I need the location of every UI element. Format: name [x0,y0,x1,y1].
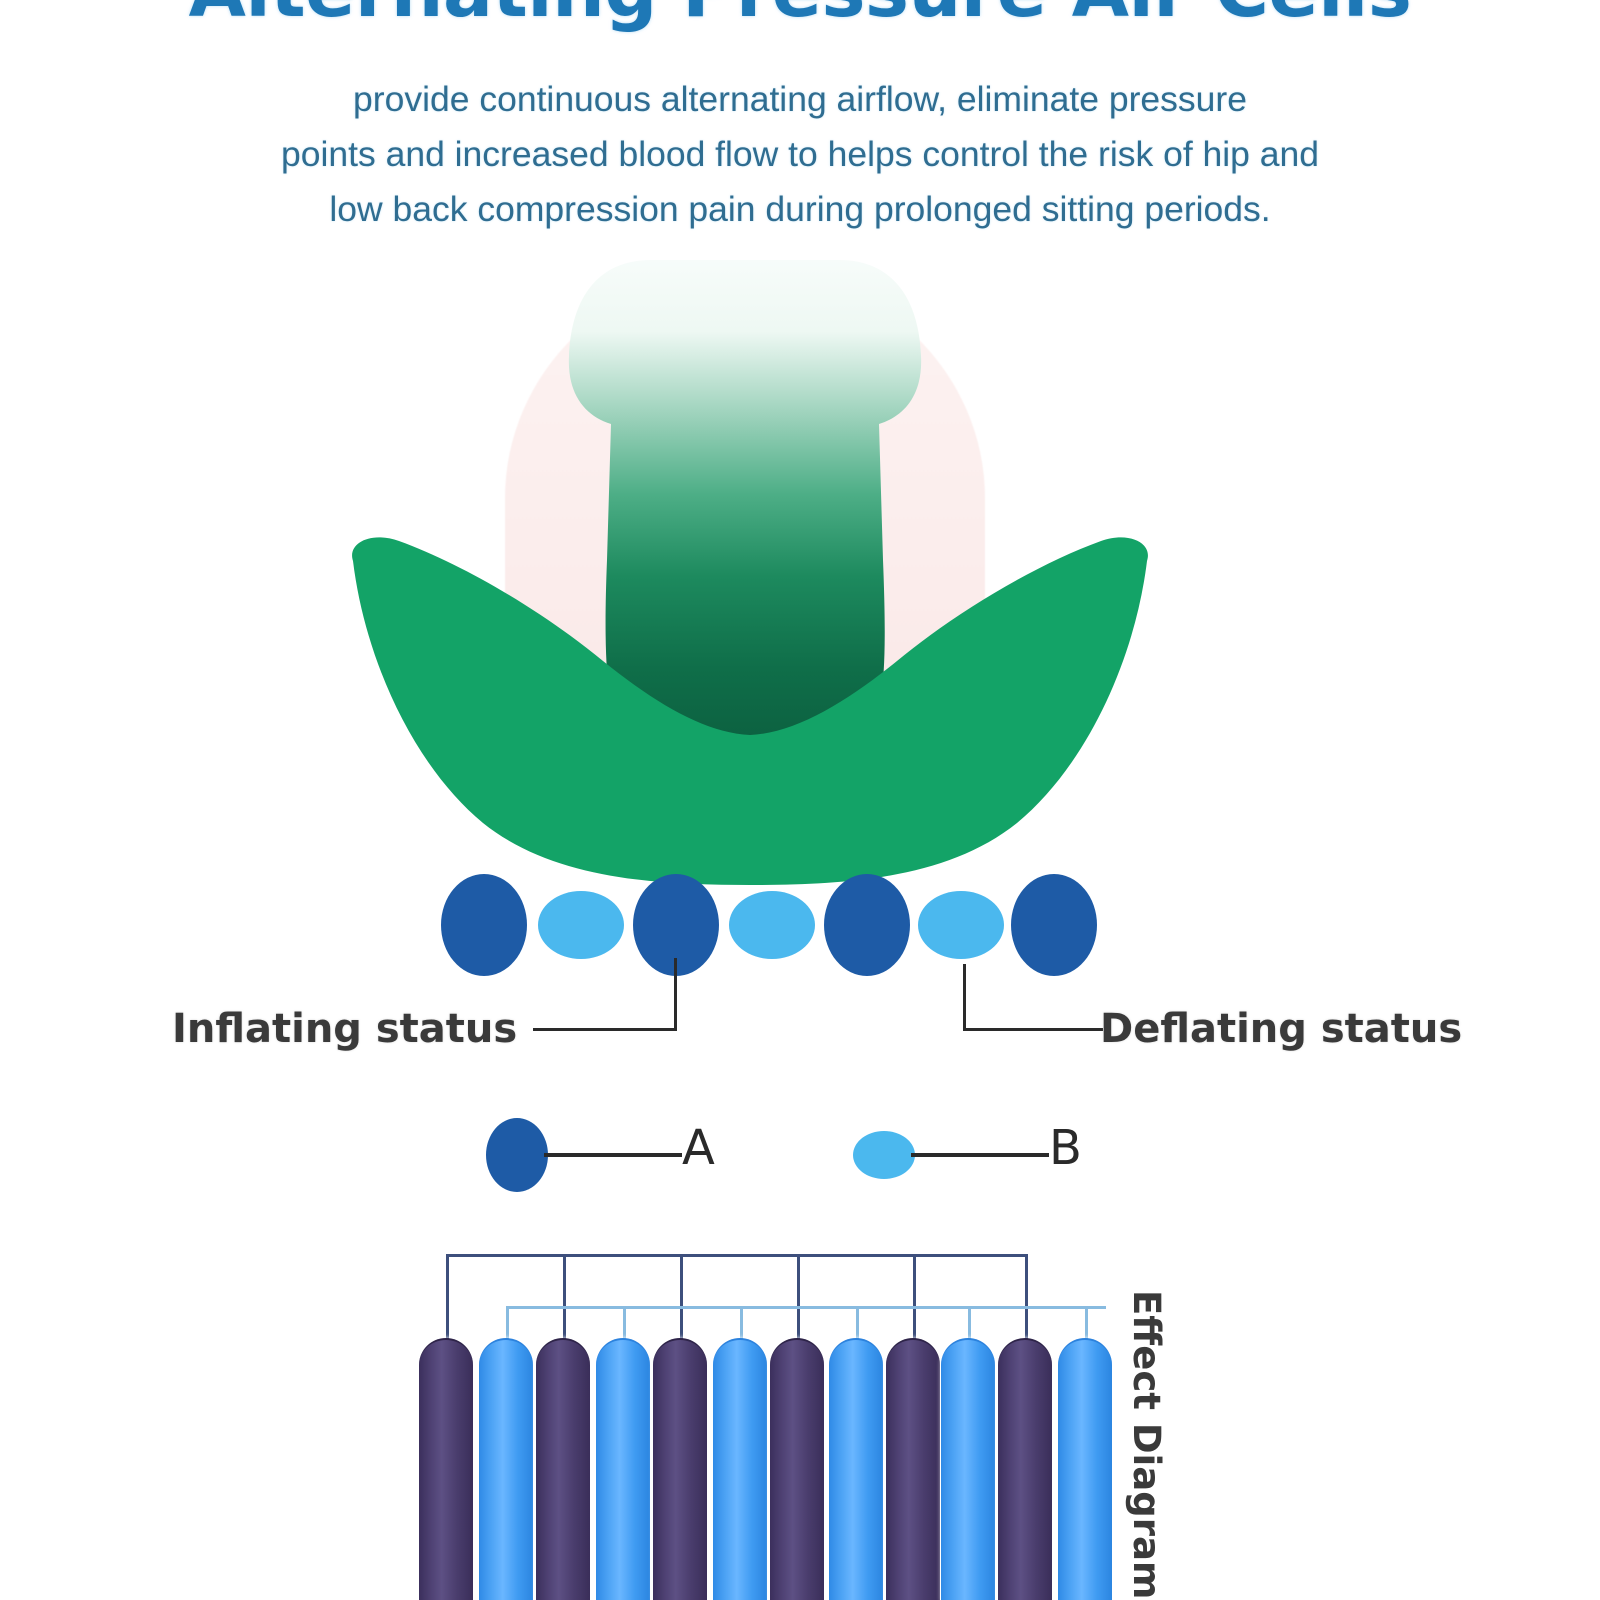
effect-tube-dark-1 [419,1338,473,1600]
manifold-light-drop-5 [968,1306,971,1342]
subtitle-line-3: low back compression pain during prolong… [100,182,1500,237]
manifold-light-drop-2 [623,1306,626,1342]
manifold-dark-rail [446,1254,1028,1257]
manifold-light-drop-4 [856,1306,859,1342]
legend-key-b: B [1049,1120,1082,1176]
legend: A B [0,1100,1600,1210]
manifold-dark-drop-6 [1025,1254,1028,1342]
legend-connector-b [911,1153,1049,1157]
manifold-light-drop-3 [740,1306,743,1342]
effect-tube-dark-2 [536,1338,590,1600]
legend-key-a: A [682,1120,715,1176]
subtitle-line-1: provide continuous alternating airflow, … [100,72,1500,127]
effect-tube-dark-5 [886,1338,940,1600]
manifold-light-drop-1 [506,1306,509,1342]
effect-tube-light-4 [829,1338,883,1600]
legend-connector-a [544,1153,682,1157]
manifold-dark-drop-1 [446,1254,449,1342]
inflating-status-label: Inflating status [172,1006,517,1052]
effect-tube-light-5 [941,1338,995,1600]
effect-tube-dark-3 [653,1338,707,1600]
effect-tube-light-1 [479,1338,533,1600]
inflating-leader-vertical [674,958,677,1030]
legend-swatch-inflated-icon [486,1118,548,1192]
deflating-leader-horizontal [963,1028,1103,1031]
cushion-illustration [300,250,1200,910]
effect-tube-light-2 [596,1338,650,1600]
page-title: Alternating Pressure Air Cells [189,0,1412,34]
effect-tube-dark-6 [998,1338,1052,1600]
effect-tube-light-3 [713,1338,767,1600]
title-band: Alternating Pressure Air Cells [0,0,1600,38]
legend-swatch-deflated-icon [853,1131,915,1179]
effect-diagram [0,1238,1600,1600]
subtitle-line-2: points and increased blood flow to helps… [100,127,1500,182]
manifold-dark-drop-4 [797,1254,800,1342]
inflating-leader-horizontal [533,1028,677,1031]
manifold-light-drop-6 [1085,1306,1088,1342]
manifold-dark-drop-2 [563,1254,566,1342]
effect-tube-dark-4 [770,1338,824,1600]
subtitle-block: provide continuous alternating airflow, … [100,72,1500,237]
infographic-page: Alternating Pressure Air Cells provide c… [0,0,1600,1600]
cushion-seat-base-icon [345,535,1155,885]
deflating-status-label: Deflating status [1100,1006,1462,1052]
manifold-dark-drop-5 [913,1254,916,1342]
effect-diagram-caption: Effect Diagram [1125,1290,1168,1599]
deflating-leader-vertical [963,964,966,1030]
status-callouts: Inflating status Deflating status [0,940,1600,1070]
manifold-light-rail [506,1306,1106,1309]
manifold-dark-drop-3 [680,1254,683,1342]
effect-tube-light-6 [1058,1338,1112,1600]
